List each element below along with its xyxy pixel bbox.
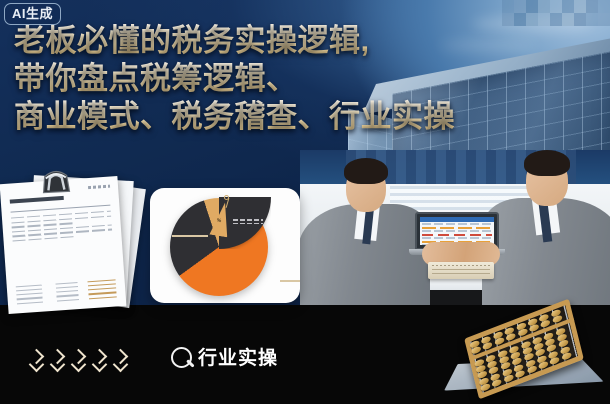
document-sheet-front [0,176,126,314]
search-tag: 行业实操 [170,345,278,372]
watermark-pixel [514,0,526,13]
poster-root: AI生成 老板必懂的税务实操逻辑, 带你盘点税筹逻辑、 商业模式、税务稽查、行业… [0,0,610,404]
stacked-documents-with-binder-clip [0,166,146,306]
wooden-abacus [452,316,610,404]
page-title: 老板必懂的税务实操逻辑, 带你盘点税筹逻辑、 商业模式、税务稽查、行业实操 [14,22,559,136]
chevron-right-icon [30,348,43,372]
spreadsheet-row [422,223,492,225]
pie-chart-card: % [150,188,300,303]
spreadsheet-row [422,227,492,229]
watermark-pixel [526,0,538,13]
watermark-pixel [538,0,550,13]
title-line-3: 商业模式、税务稽查、行业实操 [14,98,559,136]
document-header-stamp [88,185,110,190]
pie-slice-label [233,219,263,226]
spreadsheet-row [422,234,492,236]
watermark-pixel [586,13,598,26]
watermark-pixel [598,13,610,26]
chevron-arrow-group [30,348,127,372]
document-heading [10,196,64,204]
search-tag-label: 行业实操 [198,348,278,370]
spreadsheet-row [422,237,492,239]
chevron-right-icon [93,348,106,372]
watermark-pixel [574,13,586,26]
chevron-right-icon [114,348,127,372]
leader-line-right [280,280,300,282]
label-line [233,219,263,221]
watermark-pixel [562,0,574,13]
watermark-pixel [586,0,598,13]
watermark-pixel [502,0,514,13]
label-line [233,223,263,225]
document-body-text [11,211,112,242]
magnifier-icon [170,345,195,372]
title-line-2: 带你盘点税筹逻辑、 [14,60,559,98]
chevron-right-icon [72,348,85,372]
hair [344,158,388,184]
businessmen-handshake-photo [300,150,610,305]
watermark-pixel [574,0,586,13]
chevron-right-icon [51,348,64,372]
title-line-1: 老板必懂的税务实操逻辑, [14,22,559,60]
watermark-pixel [598,0,610,13]
laptop-screen [420,217,494,245]
notebook-lines [432,265,490,266]
watermark-pixel [562,13,574,26]
open-notebook [428,262,494,279]
hair [524,150,570,176]
text-line [13,236,75,242]
pie-chart: % [170,198,268,296]
ai-generated-badge: AI生成 [4,3,61,25]
pie-slice-value: % [216,218,224,226]
binder-clip-icon [38,167,73,197]
watermark-pixel [550,0,562,13]
leader-line-left [172,235,208,237]
spreadsheet-row [422,230,492,232]
